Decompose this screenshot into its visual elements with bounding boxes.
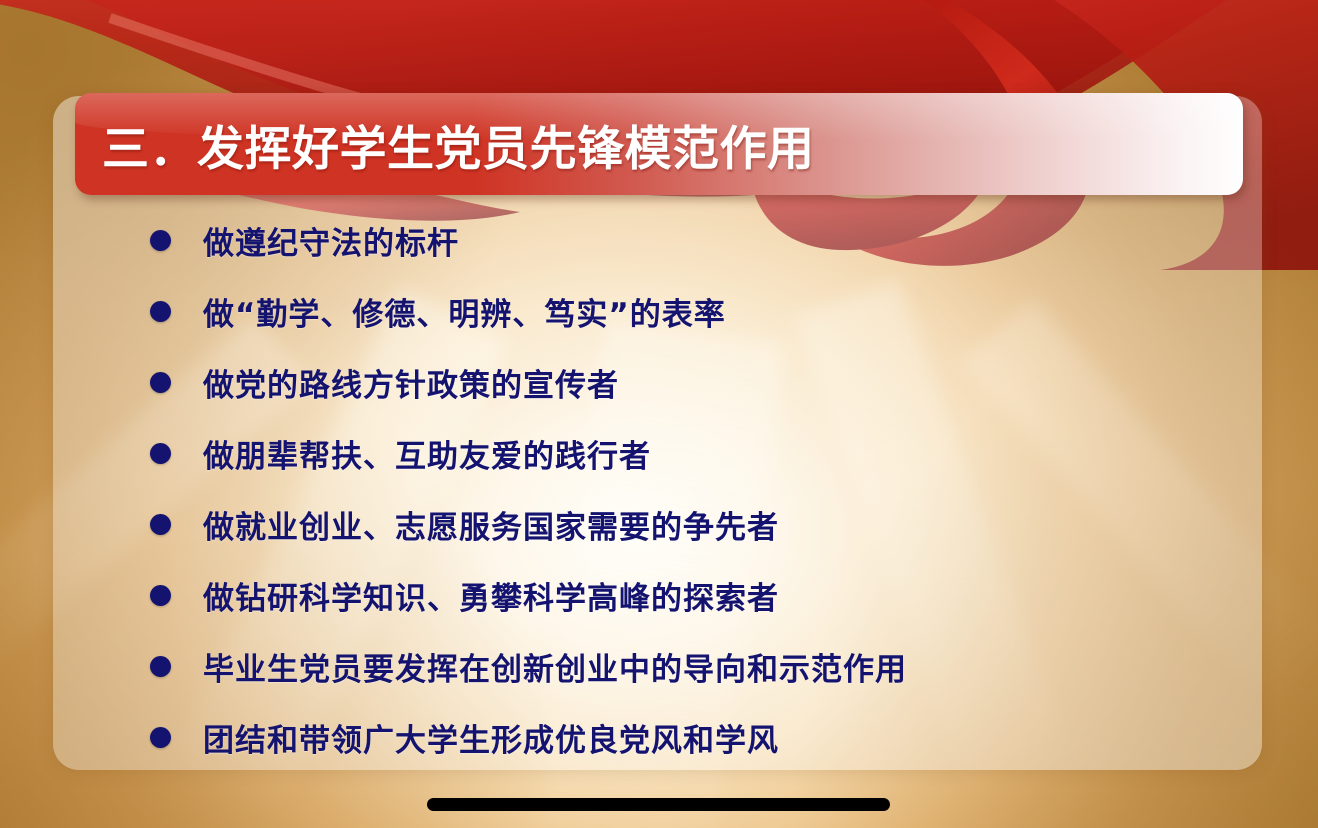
list-item-label: 做“勤学、修德、明辨、笃实”的表率 bbox=[203, 289, 726, 334]
bullet-dot-icon bbox=[150, 301, 171, 322]
list-item-label: 团结和带领广大学生形成优良党风和学风 bbox=[203, 715, 779, 760]
bullet-dot-icon bbox=[150, 585, 171, 606]
bullet-dot-icon bbox=[150, 443, 171, 464]
list-item: 做党的路线方针政策的宣传者 bbox=[150, 347, 1210, 418]
list-item-label: 毕业生党员要发挥在创新创业中的导向和示范作用 bbox=[203, 644, 907, 689]
list-item: 做“勤学、修德、明辨、笃实”的表率 bbox=[150, 276, 1210, 347]
list-item-label: 做党的路线方针政策的宣传者 bbox=[203, 360, 619, 405]
black-underline-bar bbox=[427, 798, 890, 811]
list-item-label: 做朋辈帮扶、互助友爱的践行者 bbox=[203, 431, 651, 476]
bullet-dot-icon bbox=[150, 372, 171, 393]
slide-title: 三．发挥好学生党员先锋模范作用 bbox=[102, 110, 815, 179]
list-item: 毕业生党员要发挥在创新创业中的导向和示范作用 bbox=[150, 631, 1210, 702]
list-item: 做钻研科学知识、勇攀科学高峰的探索者 bbox=[150, 560, 1210, 631]
list-item-label: 做就业创业、志愿服务国家需要的争先者 bbox=[203, 502, 779, 547]
presentation-slide: 三．发挥好学生党员先锋模范作用 做遵纪守法的标杆 做“勤学、修德、明辨、笃实”的… bbox=[0, 0, 1318, 828]
bullet-dot-icon bbox=[150, 514, 171, 535]
list-item: 团结和带领广大学生形成优良党风和学风 bbox=[150, 702, 1210, 773]
list-item-label: 做钻研科学知识、勇攀科学高峰的探索者 bbox=[203, 573, 779, 618]
list-item: 做朋辈帮扶、互助友爱的践行者 bbox=[150, 418, 1210, 489]
list-item: 做就业创业、志愿服务国家需要的争先者 bbox=[150, 489, 1210, 560]
list-item-label: 做遵纪守法的标杆 bbox=[203, 218, 459, 263]
slide-title-bar: 三．发挥好学生党员先锋模范作用 bbox=[75, 93, 1243, 195]
list-item: 做遵纪守法的标杆 bbox=[150, 205, 1210, 276]
bullet-list: 做遵纪守法的标杆 做“勤学、修德、明辨、笃实”的表率 做党的路线方针政策的宣传者… bbox=[150, 205, 1210, 773]
bullet-dot-icon bbox=[150, 656, 171, 677]
bullet-dot-icon bbox=[150, 230, 171, 251]
bullet-dot-icon bbox=[150, 727, 171, 748]
